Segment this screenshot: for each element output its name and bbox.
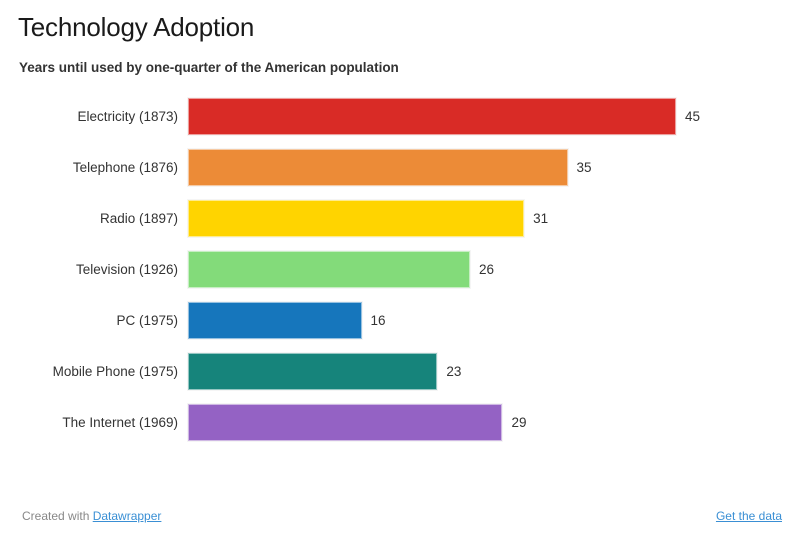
datawrapper-link[interactable]: Datawrapper — [93, 509, 162, 523]
bar[interactable] — [188, 200, 524, 237]
bar-value-label: 45 — [685, 98, 700, 135]
bar-row: PC (1975)16 — [0, 302, 800, 339]
chart-container: Technology Adoption Years until used by … — [0, 0, 800, 539]
bar-category-label: Television (1926) — [76, 251, 178, 288]
bar[interactable] — [188, 353, 437, 390]
bar[interactable] — [188, 98, 676, 135]
bar-track: 26 — [188, 251, 800, 288]
bar-track: 31 — [188, 200, 800, 237]
bar[interactable] — [188, 302, 362, 339]
bar-category-label: The Internet (1969) — [62, 404, 178, 441]
bar-value-label: 26 — [479, 251, 494, 288]
bar-category-label: PC (1975) — [116, 302, 178, 339]
get-the-data-link[interactable]: Get the data — [716, 509, 782, 523]
bar-track: 35 — [188, 149, 800, 186]
bar[interactable] — [188, 149, 568, 186]
bar-category-label: Electricity (1873) — [77, 98, 178, 135]
bar-row: The Internet (1969)29 — [0, 404, 800, 441]
bar-value-label: 35 — [577, 149, 592, 186]
bar-track: 29 — [188, 404, 800, 441]
bar-track: 23 — [188, 353, 800, 390]
chart-footer: Created with Datawrapper Get the data — [0, 500, 800, 539]
bar-row: Television (1926)26 — [0, 251, 800, 288]
bar-category-label: Mobile Phone (1975) — [53, 353, 178, 390]
chart-title: Technology Adoption — [18, 12, 254, 43]
bar-value-label: 23 — [446, 353, 461, 390]
bar-track: 16 — [188, 302, 800, 339]
bar-category-label: Telephone (1876) — [73, 149, 178, 186]
bar-row: Radio (1897)31 — [0, 200, 800, 237]
bar[interactable] — [188, 404, 502, 441]
footer-credit: Created with Datawrapper — [22, 509, 161, 523]
bar-track: 45 — [188, 98, 800, 135]
footer-actions: Get the data — [716, 509, 782, 523]
bar-value-label: 16 — [371, 302, 386, 339]
bar-row: Telephone (1876)35 — [0, 149, 800, 186]
chart-subtitle: Years until used by one-quarter of the A… — [19, 60, 399, 75]
bar-category-label: Radio (1897) — [100, 200, 178, 237]
bar-chart-plot-area: Electricity (1873)45Telephone (1876)35Ra… — [0, 98, 800, 468]
bar-value-label: 31 — [533, 200, 548, 237]
bar[interactable] — [188, 251, 470, 288]
bar-row: Electricity (1873)45 — [0, 98, 800, 135]
bar-row: Mobile Phone (1975)23 — [0, 353, 800, 390]
footer-credit-text: Created with — [22, 509, 93, 523]
bar-value-label: 29 — [511, 404, 526, 441]
